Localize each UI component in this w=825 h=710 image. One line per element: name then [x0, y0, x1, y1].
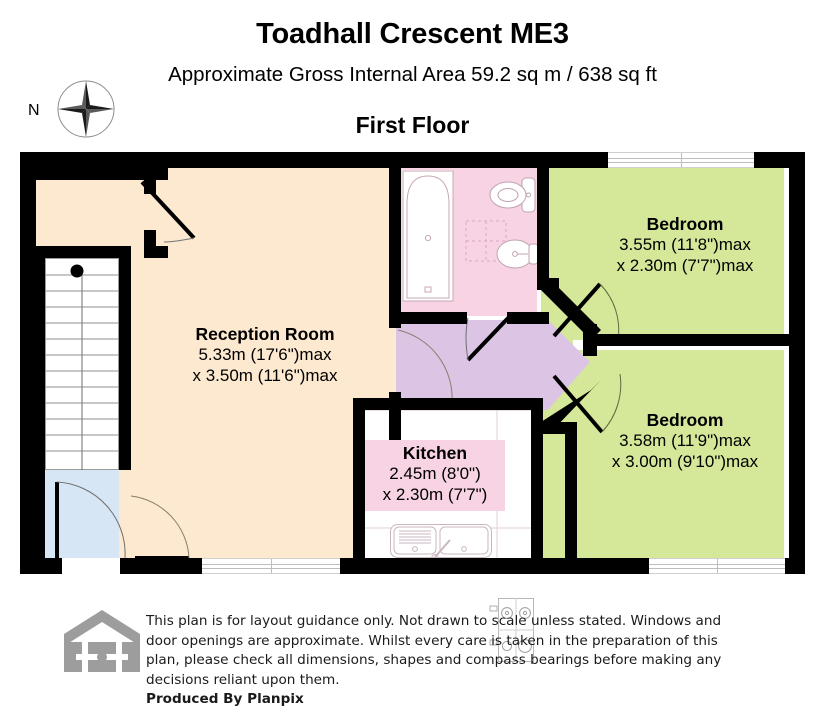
- stair-wall-right: [119, 246, 131, 470]
- partition-reception-bathroom: [389, 168, 401, 328]
- partition-bedroom1-bedroom2: [593, 334, 789, 346]
- kitchen-label: Kitchen 2.45m (8'0") x 2.30m (7'7"): [365, 440, 505, 511]
- landing-to-reception-door-arc: [396, 324, 466, 408]
- compass-north-label: N: [28, 102, 40, 120]
- exterior-wall-right: [789, 152, 805, 574]
- kitchen-wall-left: [353, 398, 365, 570]
- produced-by-text: Produced By Planpix: [146, 690, 746, 710]
- toilet-fixture: [489, 174, 537, 226]
- bedroom-2-label: Bedroom 3.58m (11'9")max x 3.00m (9'10")…: [585, 410, 785, 473]
- reception-room-label: Reception Room 5.33m (17'6")max x 3.50m …: [140, 324, 390, 387]
- window-top-bedroom1: [608, 152, 754, 168]
- compass-rose: N: [28, 78, 120, 140]
- staircase-treads: [45, 258, 119, 470]
- window-bottom-reception: [202, 558, 340, 574]
- bathroom-wall-right: [537, 168, 549, 286]
- bathroom-wall-bottom: [389, 312, 467, 324]
- floor-plan-drawing: Reception Room 5.33m (17'6")max x 3.50m …: [20, 152, 805, 582]
- cupboard-wall-bottom: [144, 246, 168, 258]
- gross-internal-area-text: Approximate Gross Internal Area 59.2 sq …: [0, 63, 825, 87]
- exterior-wall-left: [20, 152, 36, 574]
- disclaimer-text: This plan is for layout guidance only. N…: [146, 612, 746, 710]
- kitchen-wall-top: [353, 398, 543, 410]
- partition-bedroom-stub: [583, 324, 597, 356]
- page-title: Toadhall Crescent ME3: [0, 18, 825, 51]
- entrance-door-arc: [53, 476, 127, 566]
- washbasin-fixture: [495, 232, 539, 276]
- stair-wall-top: [36, 246, 131, 258]
- bath-fixture: [402, 170, 456, 304]
- floor-label: First Floor: [0, 112, 825, 139]
- stair-wall-left: [36, 246, 45, 558]
- bedroom-1-label: Bedroom 3.55m (11'8")max x 2.30m (7'7")m…: [585, 214, 785, 277]
- reception-door-arc: [119, 470, 195, 566]
- disclaimer-body: This plan is for layout guidance only. N…: [146, 613, 721, 688]
- cupboard-wall-right-upper: [144, 168, 156, 194]
- planpix-house-logo: [58, 608, 146, 678]
- front-door-opening: [62, 558, 120, 574]
- window-bottom-bedroom2: [649, 558, 785, 574]
- compass-rose-icon: [55, 78, 117, 140]
